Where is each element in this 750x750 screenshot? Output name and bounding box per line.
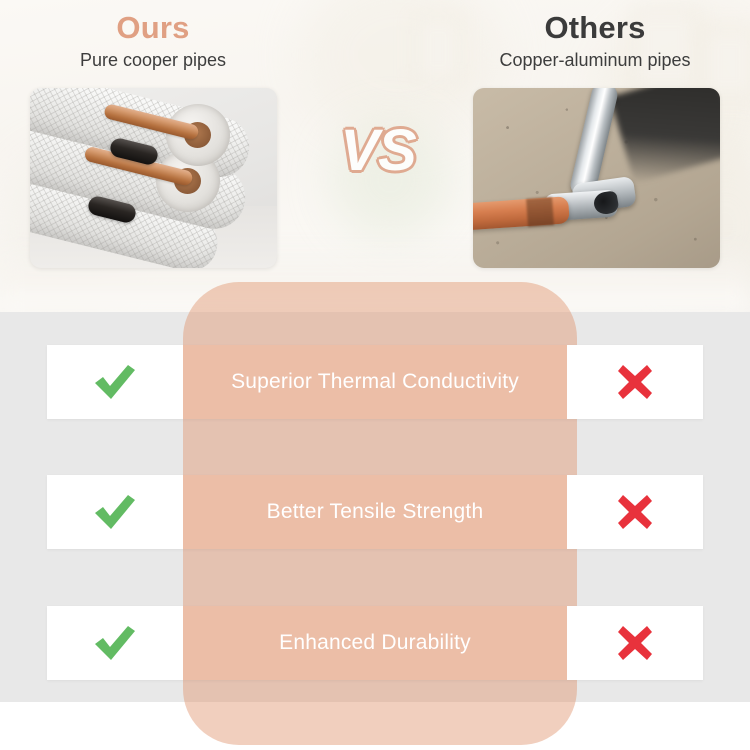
column-header-others: Others Copper-aluminum pipes (445, 10, 745, 71)
cross-icon (615, 362, 655, 402)
check-icon (92, 492, 138, 532)
feature-label-3: Enhanced Durability (279, 631, 471, 655)
comparison-rows: Superior Thermal Conductivity Better Ten… (0, 312, 750, 702)
feature-label-2: Better Tensile Strength (267, 500, 484, 524)
others-result-cell-1 (567, 345, 703, 419)
ours-result-cell-2 (47, 475, 183, 549)
cross-icon (615, 492, 655, 532)
table-row: Superior Thermal Conductivity (47, 345, 703, 419)
table-row: Enhanced Durability (47, 606, 703, 680)
feature-label-cell-3: Enhanced Durability (183, 606, 567, 680)
others-result-cell-3 (567, 606, 703, 680)
ours-subtitle: Pure cooper pipes (3, 50, 303, 72)
others-title: Others (445, 10, 745, 46)
ours-result-cell-3 (47, 606, 183, 680)
cross-icon (615, 623, 655, 663)
others-result-cell-2 (567, 475, 703, 549)
ours-title: Ours (3, 10, 303, 46)
feature-label-cell-1: Superior Thermal Conductivity (183, 345, 567, 419)
ours-result-cell-1 (47, 345, 183, 419)
check-icon (92, 623, 138, 663)
others-subtitle: Copper-aluminum pipes (445, 50, 745, 72)
copper-shadow (526, 197, 554, 227)
photo-copper-aluminum-pipes (473, 88, 720, 268)
feature-label-cell-2: Better Tensile Strength (183, 475, 567, 549)
bottom-white-strip (0, 702, 750, 750)
feature-label-1: Superior Thermal Conductivity (231, 370, 519, 394)
photo-pure-copper-pipes (30, 88, 277, 268)
check-icon (92, 362, 138, 402)
comparison-infographic: Ours Pure cooper pipes Others Copper-alu… (0, 0, 750, 750)
versus-badge: VS (318, 122, 438, 180)
column-header-ours: Ours Pure cooper pipes (3, 10, 303, 71)
table-row: Better Tensile Strength (47, 475, 703, 549)
